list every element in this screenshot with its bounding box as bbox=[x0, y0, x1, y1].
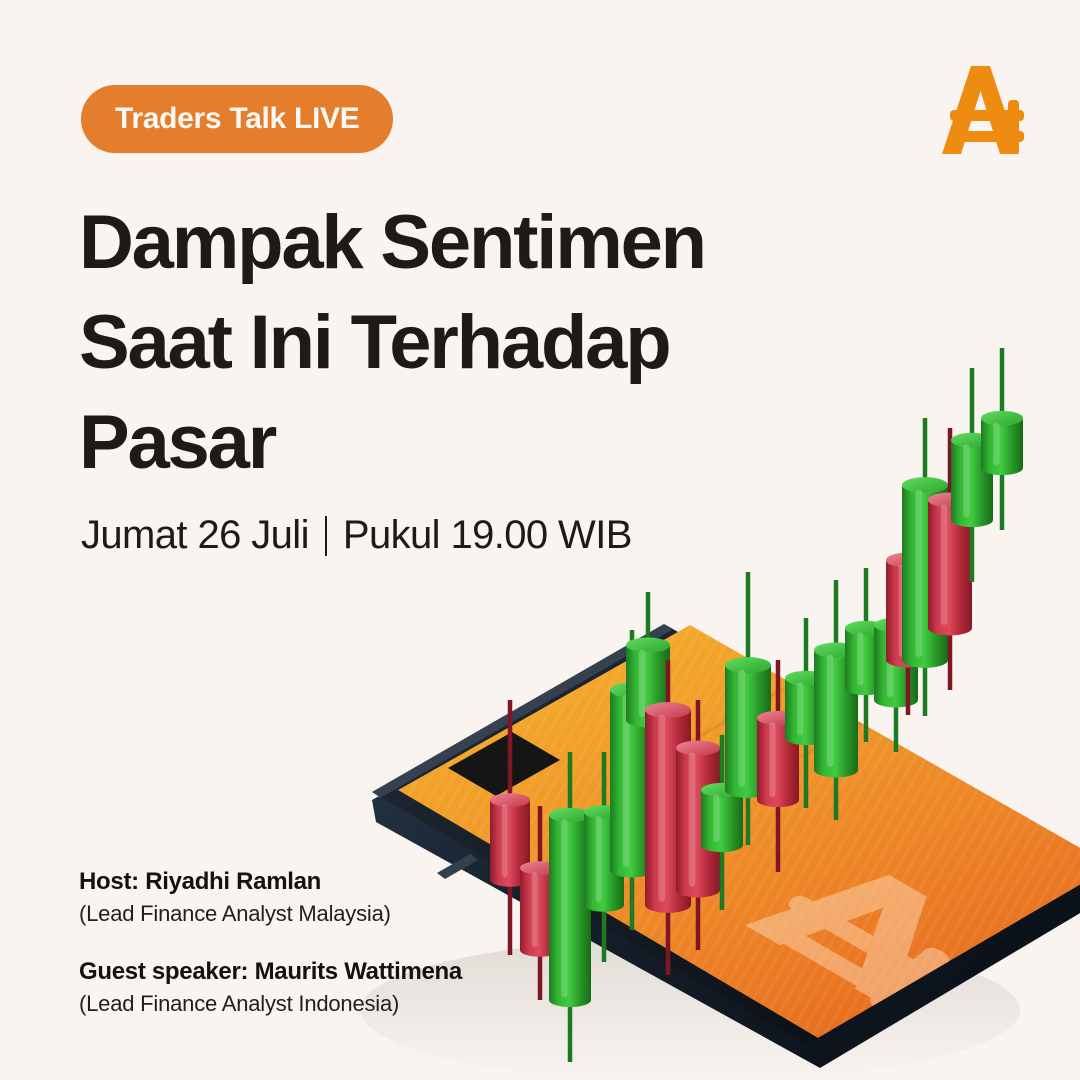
datetime-separator bbox=[325, 516, 327, 556]
candle-highlight bbox=[639, 649, 646, 717]
headline-line-2: Saat Ini Terhadap bbox=[79, 293, 819, 393]
credit-host-role: (Lead Finance Analyst Malaysia) bbox=[79, 898, 462, 930]
candle-highlight bbox=[827, 654, 834, 767]
speaker-credits: Host: Riyadhi Ramlan (Lead Finance Analy… bbox=[79, 866, 462, 1020]
candle-highlight bbox=[596, 816, 602, 902]
candle-highlight bbox=[502, 804, 508, 877]
candle-highlight bbox=[689, 752, 696, 887]
candle-highlight bbox=[769, 722, 775, 797]
candle-highlight bbox=[658, 715, 665, 902]
promo-poster: Traders Talk LIVE Dampak Sentimen Saat I… bbox=[0, 0, 1080, 1080]
candle-body bbox=[701, 790, 743, 852]
candle-top-cap bbox=[981, 411, 1023, 425]
headline-line-1: Dampak Sentimen bbox=[79, 193, 819, 293]
candle-top-cap bbox=[490, 793, 530, 807]
event-date: Jumat 26 Juli bbox=[81, 513, 309, 558]
candle-highlight bbox=[963, 444, 969, 517]
candle-highlight bbox=[561, 819, 567, 997]
candle-top-cap bbox=[676, 741, 720, 756]
credit-host: Host: Riyadhi Ramlan (Lead Finance Analy… bbox=[79, 866, 462, 930]
candle-body bbox=[981, 418, 1023, 475]
credit-host-name: Host: Riyadhi Ramlan bbox=[79, 866, 462, 898]
candle-highlight bbox=[532, 872, 538, 947]
candle-highlight bbox=[738, 670, 745, 787]
candle-highlight bbox=[713, 794, 719, 842]
event-time: Pukul 19.00 WIB bbox=[343, 513, 632, 558]
candle-top-cap bbox=[725, 657, 771, 673]
headline-line-3: Pasar bbox=[79, 393, 819, 493]
credit-guest: Guest speaker: Maurits Wattimena (Lead F… bbox=[79, 956, 462, 1020]
credit-guest-name: Guest speaker: Maurits Wattimena bbox=[79, 956, 462, 988]
credit-guest-role: (Lead Finance Analyst Indonesia) bbox=[79, 988, 462, 1020]
candle-top-cap bbox=[902, 477, 948, 493]
candle-highlight bbox=[915, 490, 922, 657]
live-badge[interactable]: Traders Talk LIVE bbox=[81, 85, 393, 153]
live-badge-label: Traders Talk LIVE bbox=[115, 102, 359, 136]
event-datetime: Jumat 26 Juli Pukul 19.00 WIB bbox=[81, 513, 632, 558]
ascendance-a-logo-icon bbox=[938, 58, 1034, 162]
page-title: Dampak Sentimen Saat Ini Terhadap Pasar bbox=[79, 193, 819, 493]
candle-highlight bbox=[941, 504, 948, 625]
candle-highlight bbox=[797, 682, 803, 735]
candle-highlight bbox=[857, 632, 863, 685]
candle-top-cap bbox=[626, 638, 670, 653]
candle-top-cap bbox=[645, 702, 691, 718]
candle-highlight bbox=[993, 422, 999, 465]
